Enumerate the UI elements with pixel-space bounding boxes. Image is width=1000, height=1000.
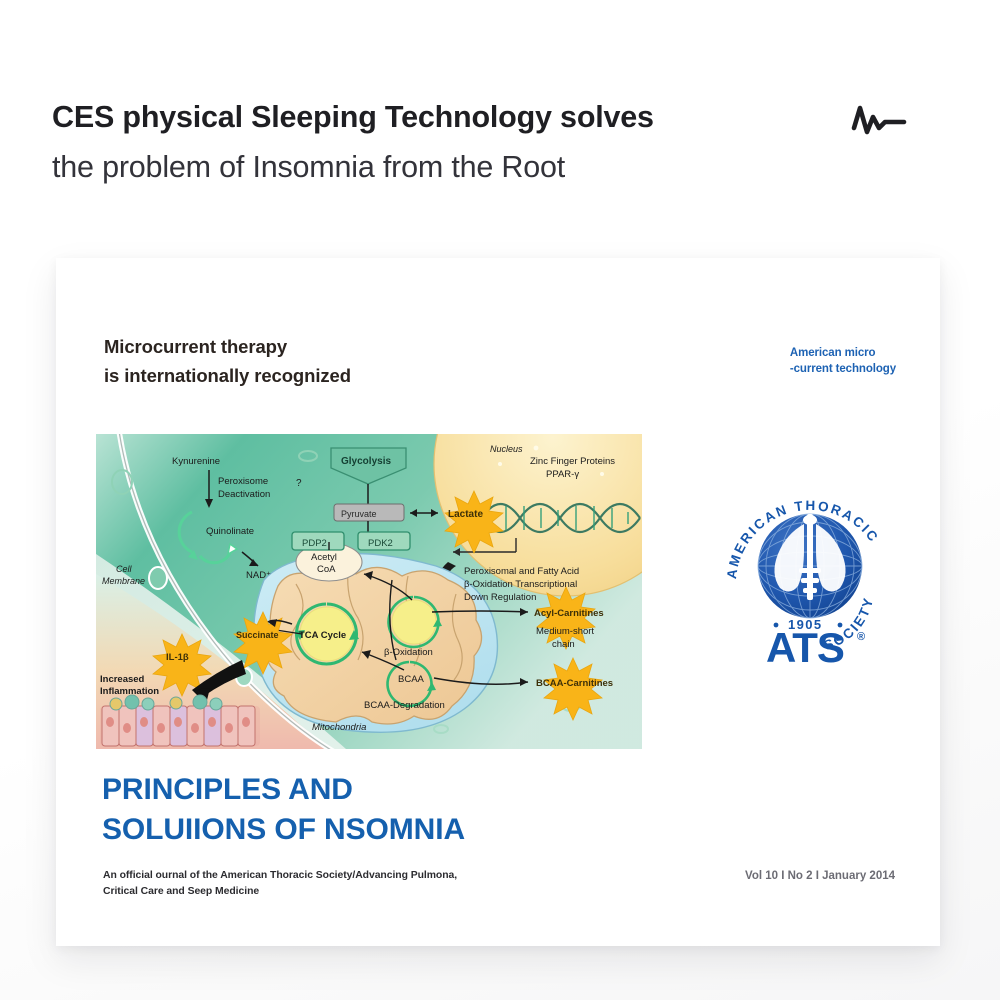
pulse-waveform-icon (848, 96, 924, 144)
journal-subtitle-line-2: Critical Care and Seep Medicine (103, 884, 583, 900)
card-kicker-line-1: Microcurrent therapy (104, 333, 351, 362)
figure-label-nad: NAD⁺ (246, 570, 271, 581)
figure-label-quinolinate: Quinolinate (206, 526, 254, 537)
figure-label-bcaa: BCAA (398, 674, 425, 685)
metabolism-diagram-figure: Kynurenine Peroxisome Deactivation ? Qui… (96, 434, 642, 749)
figure-label-zinc-finger: Zinc Finger Proteins (530, 456, 615, 467)
brand-note-line-1: American micro (790, 346, 896, 362)
journal-title-line-1: PRINCIPLES AND (102, 770, 465, 810)
journal-cover-card: Microcurrent therapy is internationally … (56, 258, 940, 946)
journal-subtitle-line-1: An official ournal of the American Thora… (103, 868, 583, 884)
figure-label-mitochondria: Mitochondria (312, 722, 366, 733)
headline-line-2: the problem of Insomnia from the Root (52, 148, 812, 187)
figure-label-glycolysis: Glycolysis (341, 456, 391, 467)
card-kicker: Microcurrent therapy is internationally … (104, 333, 351, 390)
figure-label-downreg-3: Down Regulation (464, 592, 536, 603)
figure-label-downreg-2: β-Oxidation Transcriptional (464, 579, 577, 590)
figure-label-acetyl-1: Acetyl (311, 552, 337, 563)
figure-label-acyl-carnitines: Acyl-Carnitines (534, 608, 604, 619)
card-kicker-line-2: is internationally recognized (104, 362, 351, 391)
figure-label-downreg-1: Peroxisomal and Fatty Acid (464, 566, 579, 577)
figure-label-medium-short-2: chain (552, 639, 575, 650)
headline-line-1: CES physical Sleeping Technology solves (52, 98, 812, 137)
figure-label-pyruvate: Pyruvate (341, 509, 377, 519)
figure-label-beta-oxidation: β-Oxidation (384, 647, 433, 658)
page-background: CES physical Sleeping Technology solves … (0, 0, 1000, 1000)
ats-society-logo: AMERICAN THORACIC SOCIETY (720, 492, 900, 664)
figure-label-pdk2: PDK2 (368, 538, 393, 549)
brand-note: American micro -current technology (790, 346, 896, 377)
figure-label-succinate: Succinate (236, 630, 279, 640)
figure-label-increased-1: Increased (100, 674, 145, 685)
figure-label-pdp2: PDP2 (302, 538, 327, 549)
figure-label-tca-cycle: TCA Cycle (299, 630, 346, 641)
brand-note-line-2: -current technology (790, 362, 896, 378)
figure-label-increased-2: Inflammation (100, 686, 159, 697)
figure-label-bcaa-carnitines: BCAA-Carnitines (536, 678, 613, 689)
journal-title-line-2: SOLUIIONS OF NSOMNIA (102, 810, 465, 850)
figure-label-medium-short-1: Medium-short (536, 626, 594, 637)
figure-label-bcaa-degradation: BCAA-Degradation (364, 700, 445, 711)
figure-label-cell-membrane-2: Membrane (102, 576, 145, 586)
figure-label-il1b: IL-1β (166, 652, 189, 663)
figure-label-kynurenine: Kynurenine (172, 456, 220, 467)
figure-label-cell-membrane-1: Cell (116, 564, 133, 574)
figure-label-lactate: Lactate (448, 509, 483, 520)
figure-label-ppar: PPAR-γ (546, 469, 579, 480)
journal-title: PRINCIPLES AND SOLUIIONS OF NSOMNIA (102, 770, 465, 850)
journal-subtitle: An official ournal of the American Thora… (103, 868, 583, 899)
figure-label-peroxisome-2: Deactivation (218, 489, 270, 500)
figure-label-nucleus: Nucleus (490, 444, 523, 454)
figure-label-peroxisome-1: Peroxisome (218, 476, 268, 487)
page-headline: CES physical Sleeping Technology solves … (52, 98, 812, 187)
figure-label-acetyl-2: CoA (317, 564, 336, 575)
journal-volume-info: Vol 10 I No 2 I January 2014 (745, 870, 895, 882)
ats-registered-mark: ® (857, 631, 865, 643)
ats-wordmark: ATS (766, 624, 844, 664)
figure-label-question: ? (296, 478, 302, 489)
